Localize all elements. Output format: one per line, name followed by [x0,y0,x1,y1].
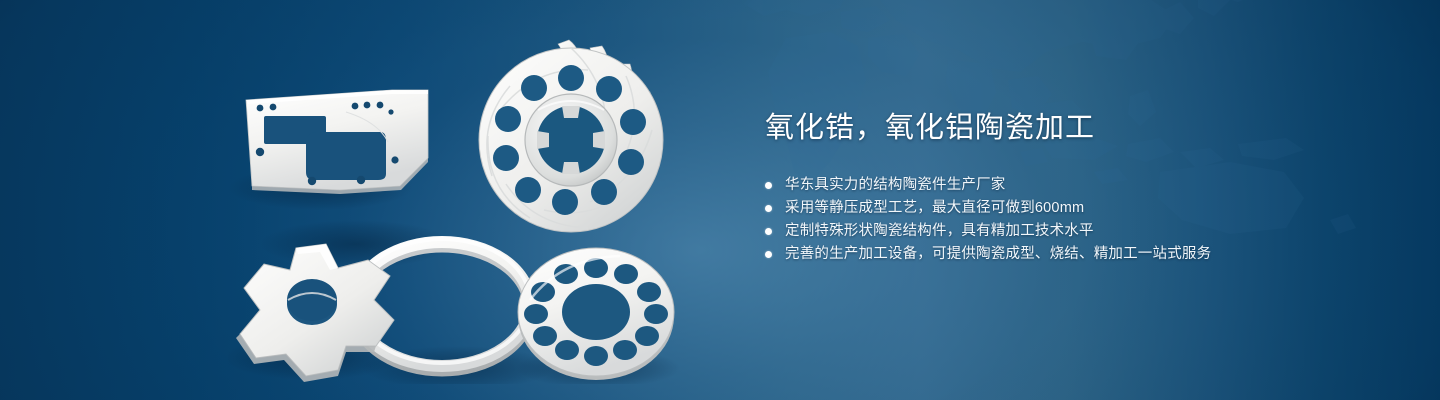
list-item: 完善的生产加工设备，可提供陶瓷成型、烧结、精加工一站式服务 [765,243,1385,265]
list-item: 采用等静压成型工艺，最大直径可做到600mm [765,197,1385,219]
ceramic-perforated-disc-part [518,248,674,380]
feature-text: 定制特殊形状陶瓷结构件，具有精加工技术水平 [785,220,1094,242]
bullet-dot-icon [765,182,772,189]
bullet-dot-icon [765,205,772,212]
bullet-dot-icon [765,251,772,258]
ceramic-processing-banner: 氧化锆，氧化铝陶瓷加工 华东具实力的结构陶瓷件生产厂家 采用等静压成型工艺，最大… [0,0,1440,400]
feature-text: 完善的生产加工设备，可提供陶瓷成型、烧结、精加工一站式服务 [785,243,1211,265]
feature-list: 华东具实力的结构陶瓷件生产厂家 采用等静压成型工艺，最大直径可做到600mm 定… [765,174,1385,265]
page-title: 氧化锆，氧化铝陶瓷加工 [765,108,1385,148]
ceramic-plate-part [246,90,428,194]
ceramic-parts-photo [228,38,728,384]
bullet-dot-icon [765,228,772,235]
list-item: 华东具实力的结构陶瓷件生产厂家 [765,174,1385,196]
feature-text: 华东具实力的结构陶瓷件生产厂家 [785,174,1006,196]
ceramic-impeller-part [479,40,663,232]
banner-copy: 氧化锆，氧化铝陶瓷加工 华东具实力的结构陶瓷件生产厂家 采用等静压成型工艺，最大… [765,108,1385,266]
feature-text: 采用等静压成型工艺，最大直径可做到600mm [785,197,1084,219]
list-item: 定制特殊形状陶瓷结构件，具有精加工技术水平 [765,220,1385,242]
